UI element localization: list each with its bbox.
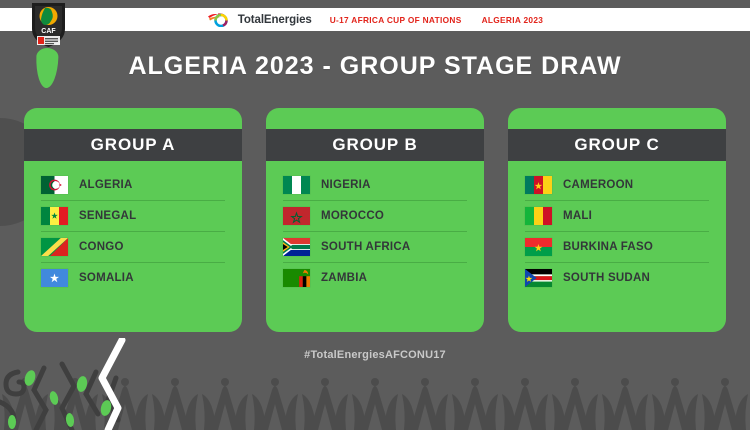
flag-burkina-faso-icon bbox=[525, 238, 552, 256]
team-row: CAMEROON bbox=[525, 170, 709, 201]
caf-badge-text: CAF bbox=[41, 28, 56, 35]
group-card-b: GROUP B NIGERIA MOROCCO bbox=[266, 108, 484, 332]
draw-graphic: TotalEnergies U-17 AFRICA CUP OF NATIONS… bbox=[0, 0, 750, 430]
page-title: ALGERIA 2023 - GROUP STAGE DRAW bbox=[0, 52, 750, 81]
team-name: ZAMBIA bbox=[321, 272, 367, 284]
group-header-b: GROUP B bbox=[266, 129, 484, 161]
team-row: NIGERIA bbox=[283, 170, 467, 201]
team-row: ALGERIA bbox=[41, 170, 225, 201]
hashtag: #TotalEnergiesAFCONU17 bbox=[0, 349, 750, 361]
group-header-a: GROUP A bbox=[24, 129, 242, 161]
flag-nigeria-icon bbox=[283, 176, 310, 194]
groups-container: GROUP A ALGERIA bbox=[24, 108, 726, 332]
flag-cameroon-icon bbox=[525, 176, 552, 194]
team-name: MOROCCO bbox=[321, 210, 384, 222]
flag-morocco-icon bbox=[283, 207, 310, 225]
team-name: ALGERIA bbox=[79, 179, 133, 191]
bottom-chevron-pattern bbox=[0, 360, 750, 430]
team-row: ZAMBIA bbox=[283, 263, 467, 293]
team-row: SOMALIA bbox=[41, 263, 225, 293]
team-list-a: ALGERIA SENEGAL CONG bbox=[24, 161, 242, 293]
team-list-b: NIGERIA MOROCCO bbox=[266, 161, 484, 293]
flag-south-sudan-icon bbox=[525, 269, 552, 287]
flag-south-africa-icon bbox=[283, 238, 310, 256]
flag-senegal-icon bbox=[41, 207, 68, 225]
group-title: GROUP C bbox=[574, 135, 659, 155]
top-strip bbox=[0, 0, 750, 8]
team-name: SOUTH AFRICA bbox=[321, 241, 410, 253]
team-row: SENEGAL bbox=[41, 201, 225, 232]
team-name: CONGO bbox=[79, 241, 124, 253]
group-title: GROUP B bbox=[332, 135, 417, 155]
team-name: SOMALIA bbox=[79, 272, 134, 284]
flag-congo-icon bbox=[41, 238, 68, 256]
flag-mali-icon bbox=[525, 207, 552, 225]
team-row: SOUTH SUDAN bbox=[525, 263, 709, 293]
competition-host: ALGERIA 2023 bbox=[482, 15, 544, 25]
group-card-c: GROUP C CAMEROON MALI bbox=[508, 108, 726, 332]
team-name: SOUTH SUDAN bbox=[563, 272, 650, 284]
team-row: CONGO bbox=[41, 232, 225, 263]
flag-somalia-icon bbox=[41, 269, 68, 287]
group-header-c: GROUP C bbox=[508, 129, 726, 161]
team-name: BURKINA FASO bbox=[563, 241, 653, 253]
totalenergies-logo bbox=[207, 12, 229, 27]
sponsor-name: TotalEnergies bbox=[238, 14, 312, 26]
flag-zambia-icon bbox=[283, 269, 310, 287]
team-list-c: CAMEROON MALI BURKINA FASO bbox=[508, 161, 726, 293]
team-name: CAMEROON bbox=[563, 179, 633, 191]
group-card-a: GROUP A ALGERIA bbox=[24, 108, 242, 332]
team-row: BURKINA FASO bbox=[525, 232, 709, 263]
team-row: SOUTH AFRICA bbox=[283, 232, 467, 263]
sponsor-band: TotalEnergies U-17 AFRICA CUP OF NATIONS… bbox=[0, 8, 750, 31]
competition-name: U-17 AFRICA CUP OF NATIONS bbox=[330, 15, 462, 25]
caf-logo: CAF bbox=[28, 1, 69, 48]
group-title: GROUP A bbox=[91, 135, 176, 155]
team-name: SENEGAL bbox=[79, 210, 136, 222]
team-row: MOROCCO bbox=[283, 201, 467, 232]
team-name: MALI bbox=[563, 210, 592, 222]
flag-algeria-icon bbox=[41, 176, 68, 194]
team-row: MALI bbox=[525, 201, 709, 232]
team-name: NIGERIA bbox=[321, 179, 371, 191]
